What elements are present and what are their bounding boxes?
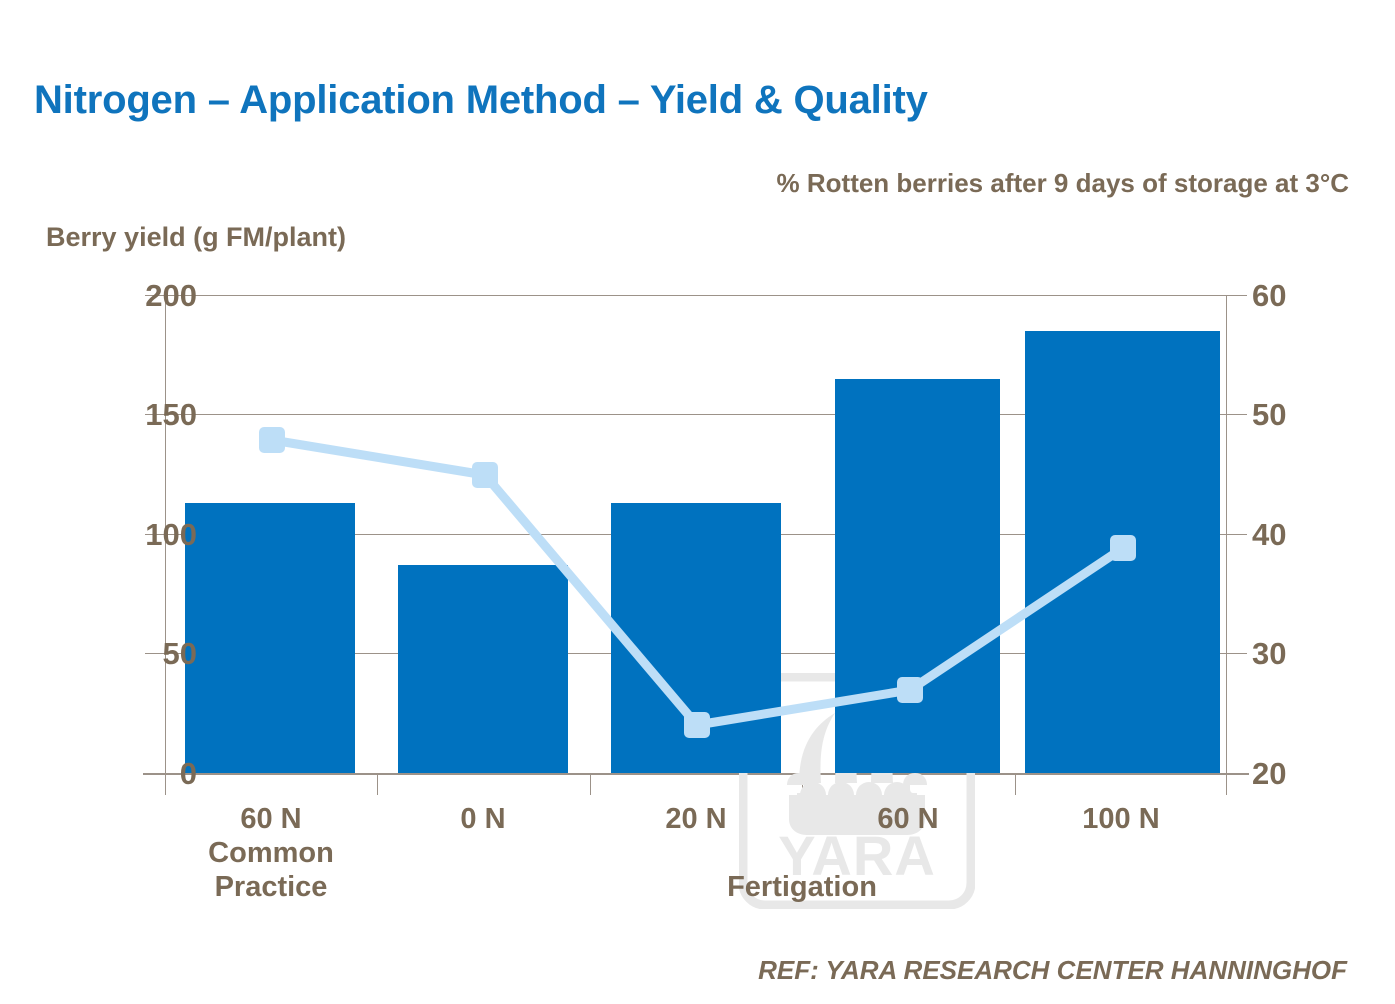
reference-footer: REF: YARA RESEARCH CENTER HANNINGHOF [758,955,1347,986]
x-axis-label-1: 0 N [377,802,589,836]
y2-axis-tick-20: 20 [1252,758,1372,789]
x-axis-label-0-line2: Common [165,836,377,870]
line-marker-2 [684,712,710,738]
rotten-berries-line-series [165,295,1227,773]
tick-x-3 [802,773,803,795]
category-axis-line [143,773,1249,775]
y2-axis-tick-60: 60 [1252,280,1372,311]
y-axis-tick-200: 200 [77,280,197,311]
line-marker-1 [472,462,498,488]
primary-axis-title: Berry yield (g FM/plant) [46,222,346,253]
x-axis-label-3: 60 N [802,802,1014,836]
tick-x-1 [377,773,378,795]
y2-axis-tick-30: 30 [1252,638,1372,669]
y-axis-tick-150: 150 [77,399,197,430]
tick-right-20 [1227,773,1247,774]
x-axis-label-0-line3: Practice [165,870,377,904]
line-marker-3 [897,677,923,703]
line-marker-0 [259,427,285,453]
tick-x-4 [1015,773,1016,795]
x-axis-label-2: 20 N [590,802,802,836]
tick-right-50 [1227,414,1247,415]
y-axis-tick-0: 0 [77,758,197,789]
y-axis-tick-50: 50 [77,638,197,669]
page-title: Nitrogen – Application Method – Yield & … [34,78,928,123]
x-axis-label-4: 100 N [1015,802,1227,836]
tick-right-40 [1227,534,1247,535]
tick-x-5 [1226,773,1227,795]
tick-right-30 [1227,653,1247,654]
y2-axis-tick-40: 40 [1252,519,1372,550]
x-axis-label-0-line1: 60 N [165,802,377,836]
line-marker-4 [1110,535,1136,561]
y2-axis-tick-50: 50 [1252,399,1372,430]
x-axis-group-label: Fertigation [590,871,1014,904]
secondary-axis-title: % Rotten berries after 9 days of storage… [777,168,1349,199]
tick-right-60 [1227,295,1247,296]
tick-x-2 [590,773,591,795]
plot-area: YARA [165,295,1227,773]
x-axis-label-0: 60 N Common Practice [165,802,377,905]
y-axis-tick-100: 100 [77,519,197,550]
